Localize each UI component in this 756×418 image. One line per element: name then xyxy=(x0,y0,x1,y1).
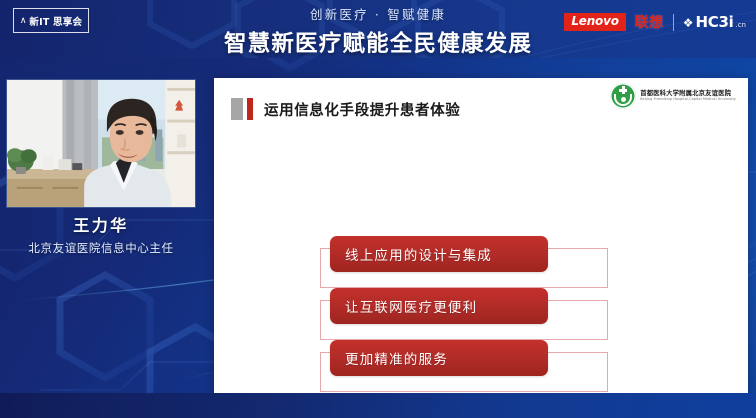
hc3i-logo: ❖ HC3i .cn xyxy=(683,13,746,31)
slide-content-rows: 线上应用的设计与集成 让互联网医疗更便利 更加精准的服务 xyxy=(214,78,748,393)
slide-panel[interactable]: 运用信息化手段提升患者体验 首都医科大学附属北京友谊医院 Beijing Fri… xyxy=(214,78,748,393)
lenovo-logo-cn: 联想 xyxy=(635,12,664,32)
presentation-stage: ∧ 新IT 思享会 创新医疗 · 智赋健康 智慧新医疗赋能全民健康发展 Leno… xyxy=(0,0,756,418)
hc3i-suffix: .cn xyxy=(735,21,746,29)
sponsor-logos: Lenovo 联想 ❖ HC3i .cn xyxy=(564,12,746,32)
content-chip-3-label: 更加精准的服务 xyxy=(345,348,448,368)
lenovo-logo: Lenovo xyxy=(564,13,625,31)
speaker-video-image xyxy=(7,80,195,208)
hc3i-name: HC3i xyxy=(696,13,734,31)
top-header-bar: ∧ 新IT 思享会 创新医疗 · 智赋健康 智慧新医疗赋能全民健康发展 Leno… xyxy=(0,0,756,58)
content-chip-1[interactable]: 线上应用的设计与集成 xyxy=(330,236,548,272)
speaker-role: 北京友谊医院信息中心主任 xyxy=(0,240,202,256)
speaker-name: 王力华 xyxy=(0,212,202,236)
logo-divider xyxy=(673,14,674,31)
content-row-3[interactable]: 更加精准的服务 xyxy=(214,340,748,392)
content-row-2[interactable]: 让互联网医疗更便利 xyxy=(214,288,748,340)
bottom-band xyxy=(0,393,756,418)
content-row-1[interactable]: 线上应用的设计与集成 xyxy=(214,236,748,288)
content-chip-2[interactable]: 让互联网医疗更便利 xyxy=(330,288,548,324)
hc3i-diamond-icon: ❖ xyxy=(683,16,694,30)
content-chip-1-label: 线上应用的设计与集成 xyxy=(345,244,492,264)
content-chip-3[interactable]: 更加精准的服务 xyxy=(330,340,548,376)
speaker-video-feed[interactable] xyxy=(6,79,196,208)
content-chip-2-label: 让互联网医疗更便利 xyxy=(345,296,477,316)
